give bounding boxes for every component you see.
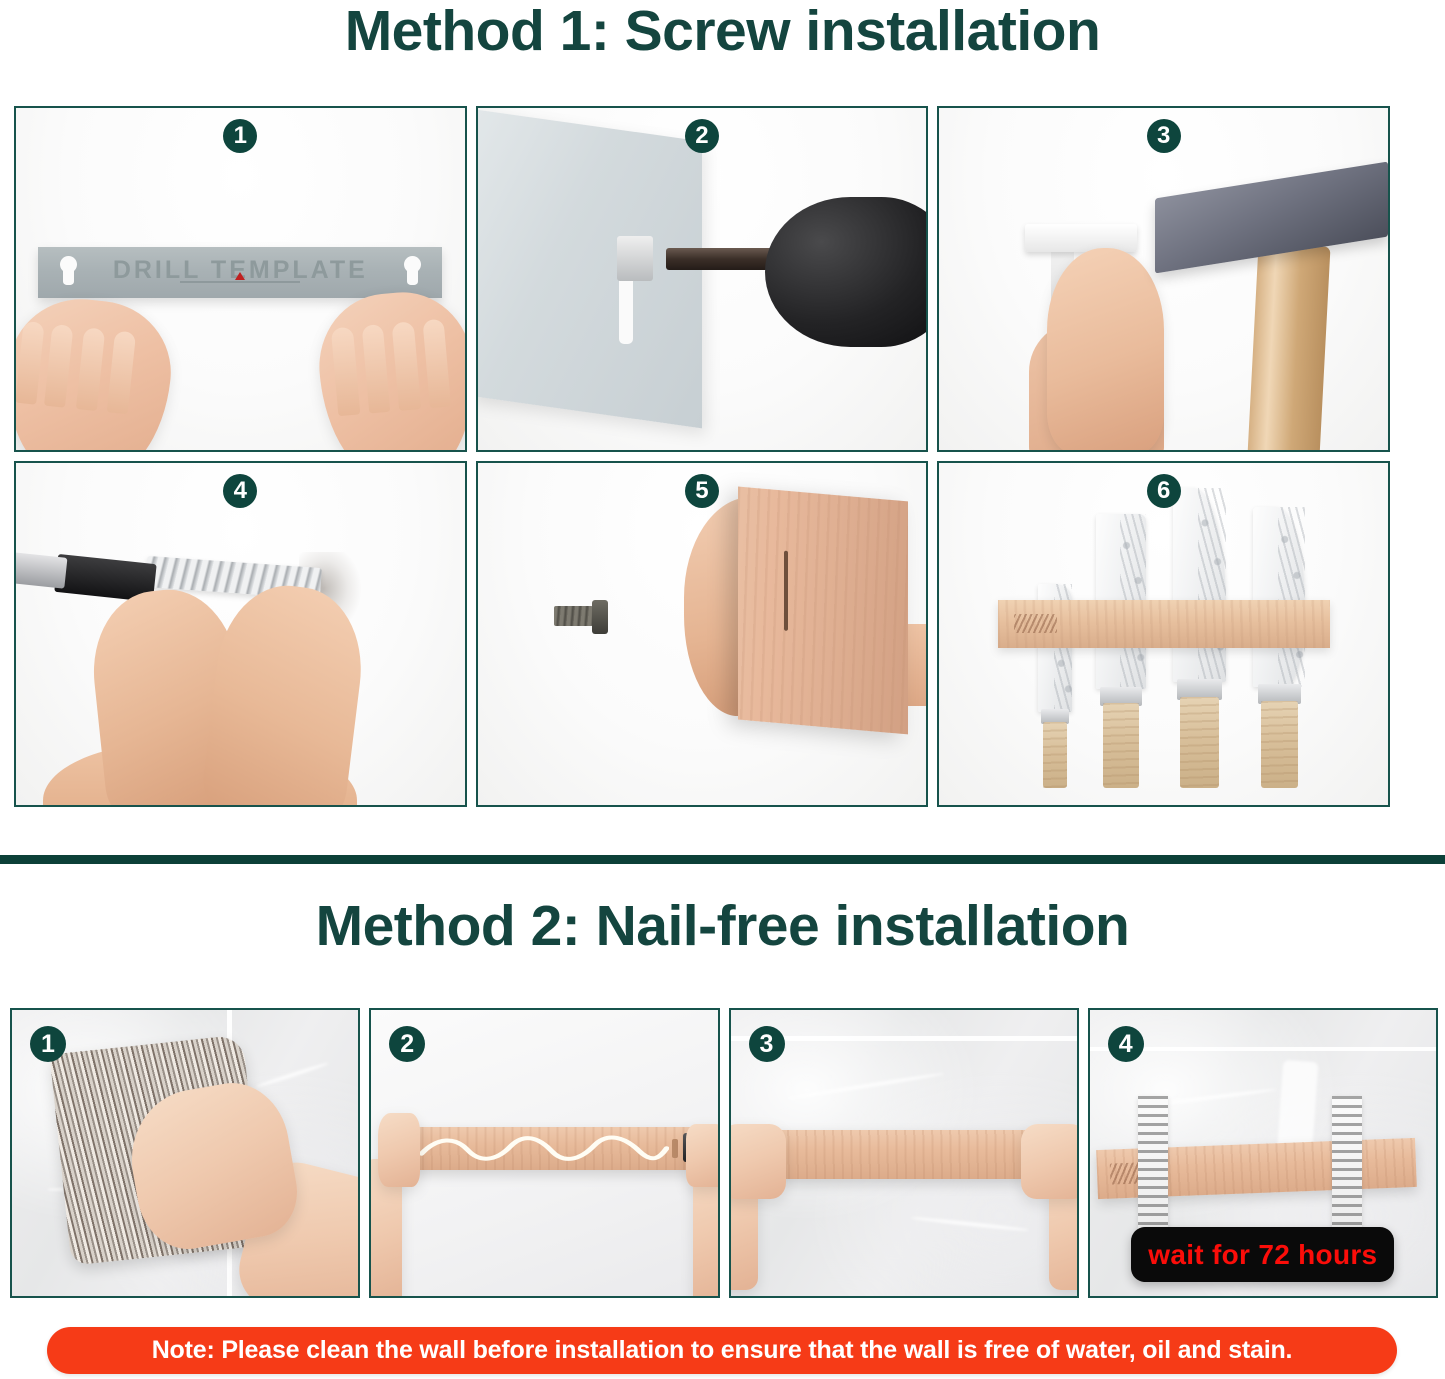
keyhole-slot xyxy=(784,551,788,630)
knife-santoku xyxy=(1253,507,1305,787)
scene-tape-and-cure: wait for 72 hours xyxy=(1090,1010,1436,1296)
left-hand xyxy=(729,1124,786,1198)
step-badge-3: 3 xyxy=(1147,119,1181,153)
section-divider xyxy=(0,855,1445,864)
step-panel-m1-3: 3 xyxy=(937,106,1390,452)
scene-drive-screw xyxy=(16,463,465,805)
screwdriver-shaft xyxy=(14,553,67,589)
warning-triangle-icon xyxy=(180,281,300,283)
method-1-title: Method 1: Screw installation xyxy=(0,0,1445,64)
wait-banner: wait for 72 hours xyxy=(1131,1227,1394,1281)
wall-anchor xyxy=(1025,224,1137,251)
step-badge-3: 3 xyxy=(749,1026,785,1062)
drill-bit-tip xyxy=(617,236,653,280)
wooden-knife-holder xyxy=(395,1127,693,1170)
note-banner: Note: Please clean the wall before insta… xyxy=(47,1327,1397,1374)
scene-position-drill-template: DRILL TEMPLATE xyxy=(16,108,465,450)
step-badge-6: 6 xyxy=(1147,474,1181,508)
index-finger xyxy=(1047,248,1164,452)
step-panel-m1-4: 4 xyxy=(14,461,467,807)
step-panel-m2-4: wait for 72 hours 4 xyxy=(1088,1008,1438,1298)
left-hand xyxy=(378,1113,420,1187)
scene-clean-wall xyxy=(12,1010,358,1296)
power-drill xyxy=(765,197,929,347)
step-panel-m2-1: 1 xyxy=(10,1008,360,1298)
right-hand xyxy=(686,1124,719,1187)
knife-nakiri xyxy=(1096,514,1145,788)
adhesive-bead xyxy=(419,1135,669,1162)
drill-template-strip: DRILL TEMPLATE xyxy=(38,247,442,298)
step-panel-m1-2: 2 xyxy=(476,106,929,452)
step-badge-2: 2 xyxy=(685,119,719,153)
scene-hammer-wall-anchor xyxy=(939,108,1388,450)
step-panel-m1-1: DRILL TEMPLATE 1 xyxy=(14,106,467,452)
magnetic-wooden-rack xyxy=(998,600,1330,648)
installed-screw xyxy=(554,600,608,634)
step-badge-4: 4 xyxy=(1108,1026,1144,1062)
method-2-panel-grid: 1 xyxy=(10,1008,1438,1298)
step-badge-1: 1 xyxy=(30,1026,66,1062)
step-panel-m2-3: 3 xyxy=(729,1008,1079,1298)
keyhole-slot-left xyxy=(63,260,74,286)
step-badge-1: 1 xyxy=(223,119,257,153)
step-panel-m2-2: 2 xyxy=(369,1008,719,1298)
wooden-knife-holder xyxy=(779,1130,1028,1179)
step-panel-m1-5: 5 xyxy=(476,461,929,807)
instruction-sheet: Method 1: Screw installation DRILL TEMPL… xyxy=(0,0,1445,1379)
scene-hang-knives xyxy=(939,463,1388,805)
step-badge-5: 5 xyxy=(685,474,719,508)
method-2-title: Method 2: Nail-free installation xyxy=(0,893,1445,959)
keyhole-slot-right xyxy=(672,1139,679,1158)
right-hand xyxy=(1021,1124,1078,1198)
masking-tape-right xyxy=(1332,1096,1361,1233)
wooden-knife-holder xyxy=(738,486,908,733)
keyhole-slot-right xyxy=(407,260,418,286)
brand-logo xyxy=(1014,614,1057,633)
wait-banner-text: wait for 72 hours xyxy=(1148,1239,1377,1271)
hammer-handle xyxy=(1248,243,1331,452)
scene-apply-adhesive xyxy=(371,1010,717,1296)
method-1-panel-grid: DRILL TEMPLATE 1 xyxy=(14,106,1390,807)
note-text: Note: Please clean the wall before insta… xyxy=(152,1336,1293,1365)
scene-drill-holes xyxy=(478,108,927,450)
step-badge-4: 4 xyxy=(223,474,257,508)
scene-mount-wooden-holder xyxy=(478,463,927,805)
step-badge-2: 2 xyxy=(389,1026,425,1062)
step-panel-m1-6: 6 xyxy=(937,461,1390,807)
masking-tape-left xyxy=(1138,1096,1167,1233)
